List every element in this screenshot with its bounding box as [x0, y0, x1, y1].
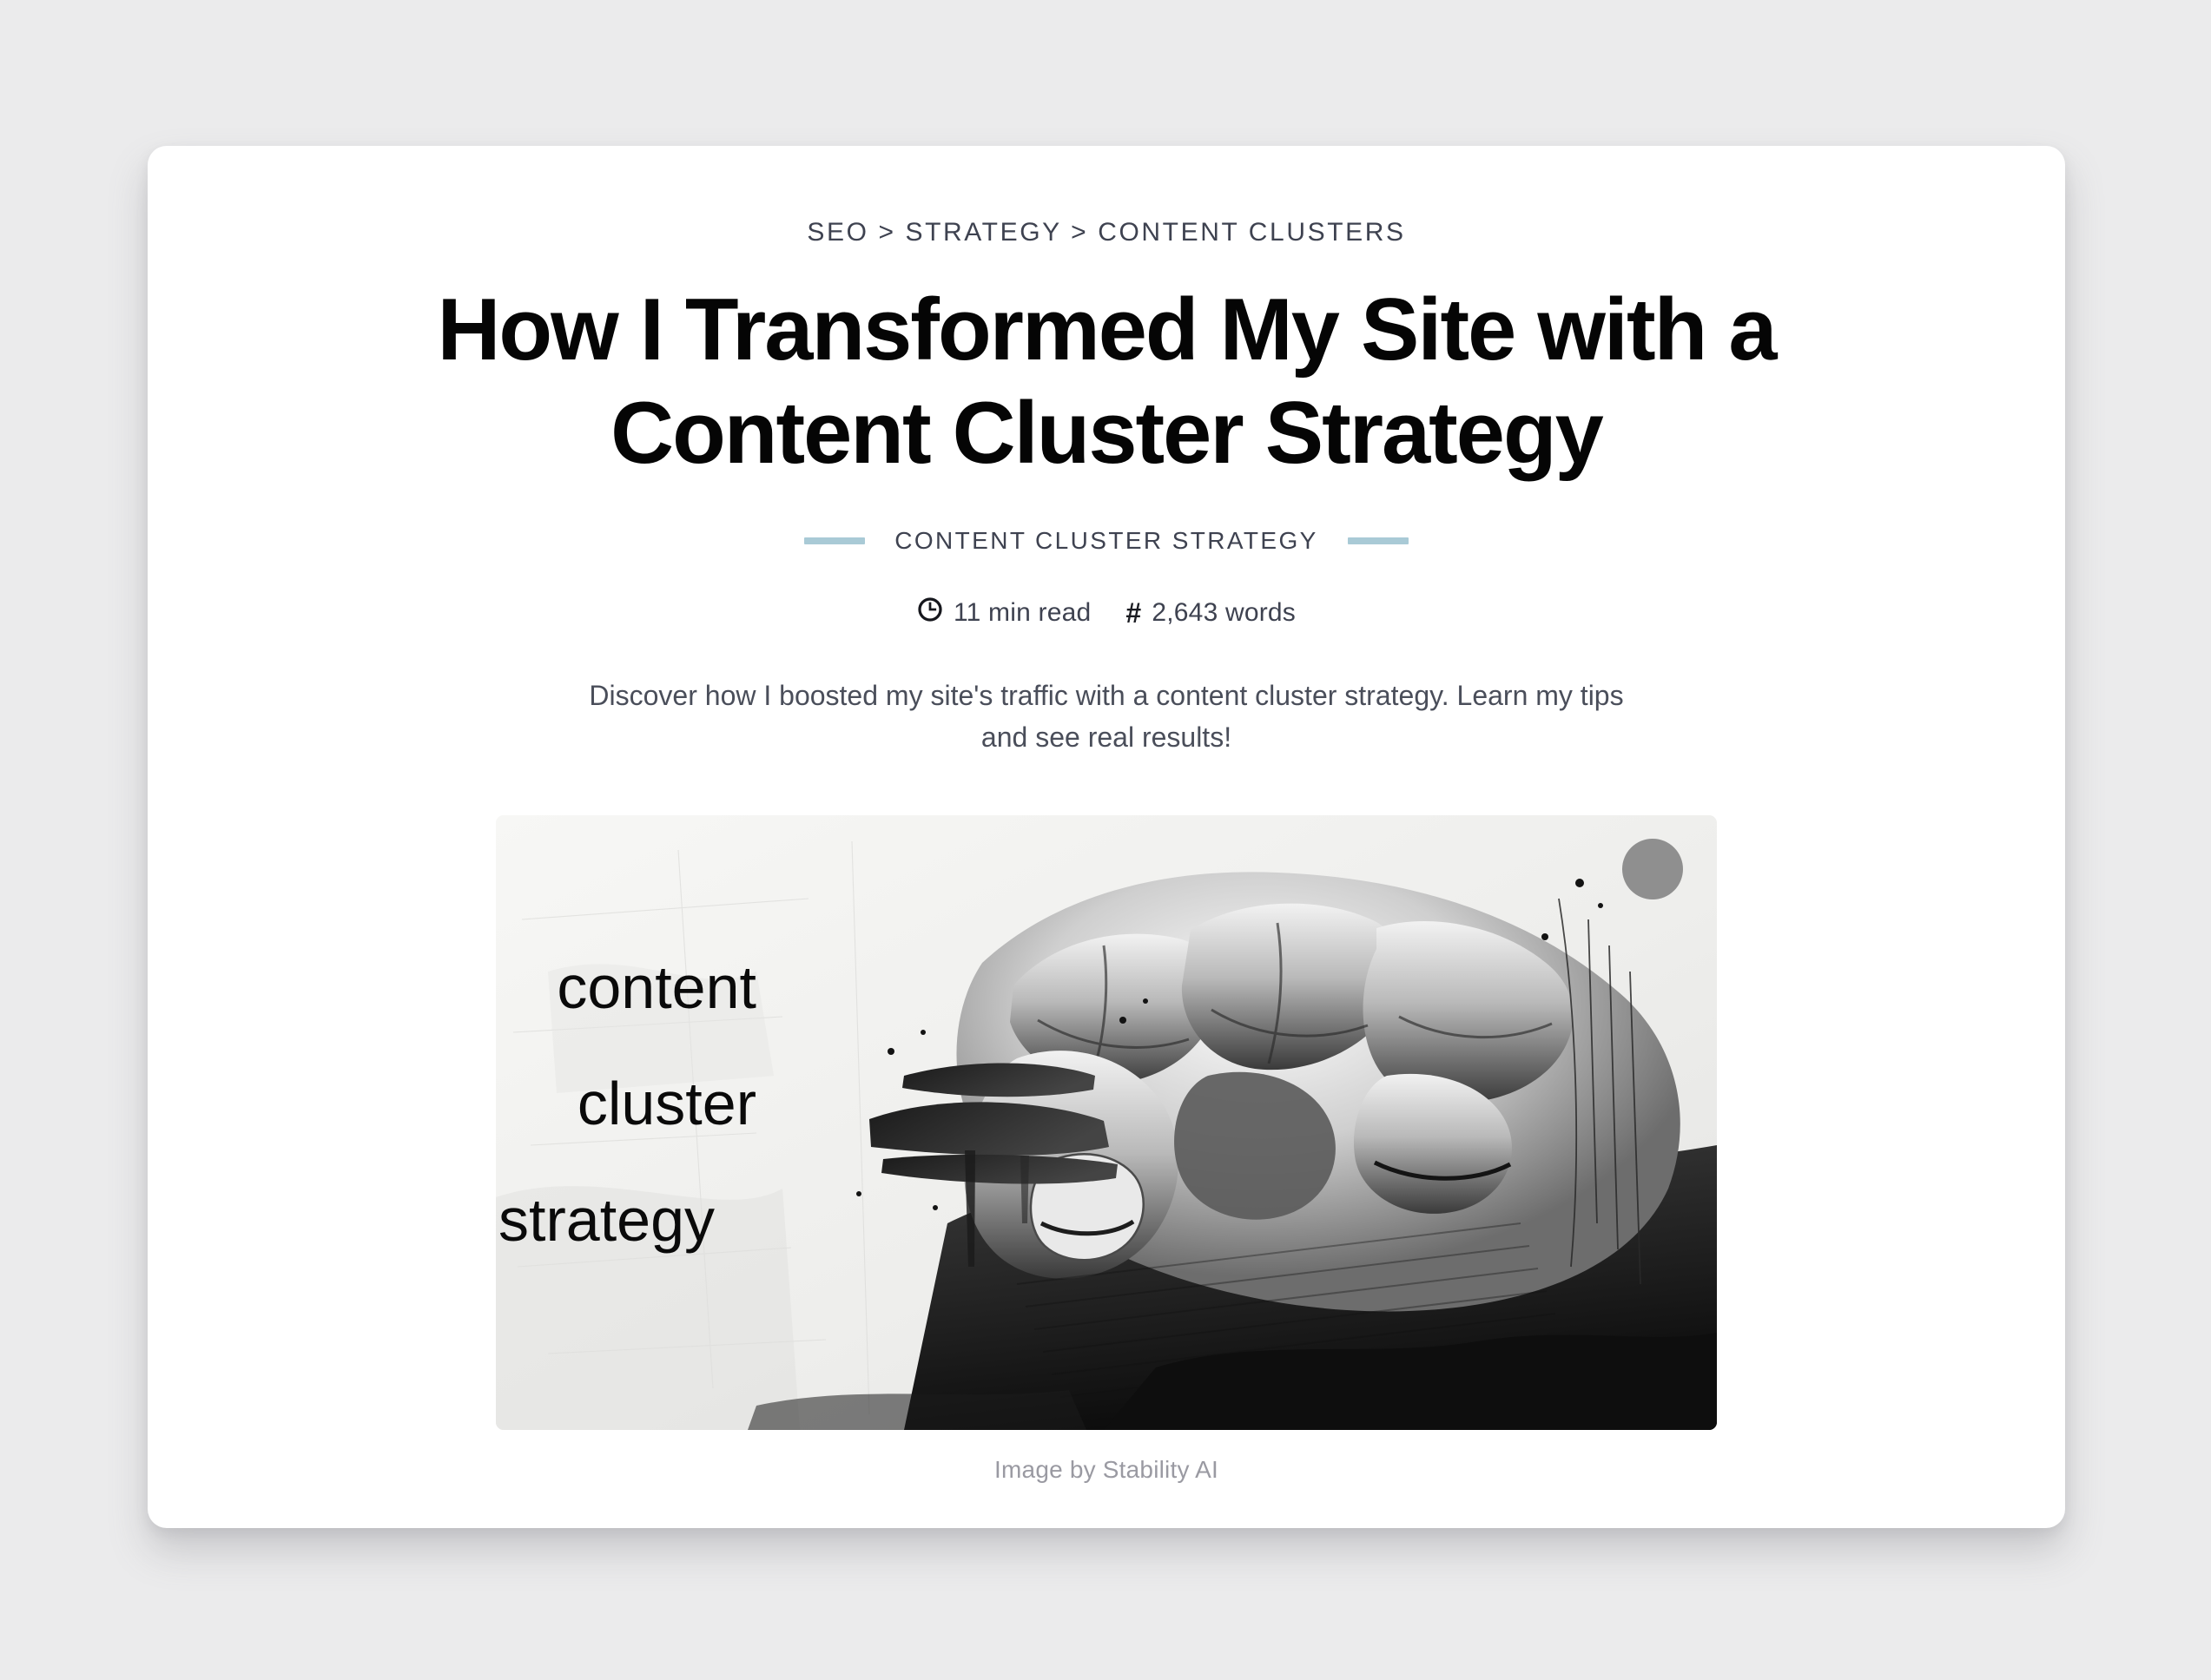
- word-count-meta: # 2,643 words: [1125, 598, 1296, 628]
- hero-caption: Image by Stability AI: [496, 1456, 1717, 1484]
- hero-figure: content cluster strategy Image by Stabil…: [496, 815, 1717, 1484]
- svg-text:strategy: strategy: [498, 1186, 715, 1254]
- tagline-rule-right: [1348, 537, 1409, 544]
- article-card-content: SEO > STRATEGY > CONTENT CLUSTERS How I …: [148, 146, 2065, 1484]
- svg-text:cluster: cluster: [577, 1070, 756, 1137]
- word-count-label: 2,643 words: [1152, 598, 1296, 628]
- article-meta-row: 11 min read # 2,643 words: [148, 596, 2065, 629]
- page-title: How I Transformed My Site with a Content…: [342, 279, 1871, 485]
- tagline-label: CONTENT CLUSTER STRATEGY: [894, 527, 1318, 555]
- read-time-meta: 11 min read: [917, 596, 1091, 629]
- article-card: SEO > STRATEGY > CONTENT CLUSTERS How I …: [148, 146, 2065, 1528]
- tagline-row: CONTENT CLUSTER STRATEGY: [148, 527, 2065, 555]
- svg-text:content: content: [557, 953, 756, 1021]
- page-root: SEO > STRATEGY > CONTENT CLUSTERS How I …: [0, 0, 2211, 1680]
- hero-image: content cluster strategy: [496, 815, 1717, 1430]
- breadcrumb[interactable]: SEO > STRATEGY > CONTENT CLUSTERS: [148, 217, 2065, 248]
- clock-icon: [917, 596, 943, 629]
- hash-icon: #: [1125, 599, 1141, 627]
- tagline-rule-left: [804, 537, 865, 544]
- read-time-label: 11 min read: [954, 598, 1091, 628]
- article-description: Discover how I boosted my site's traffic…: [572, 675, 1640, 758]
